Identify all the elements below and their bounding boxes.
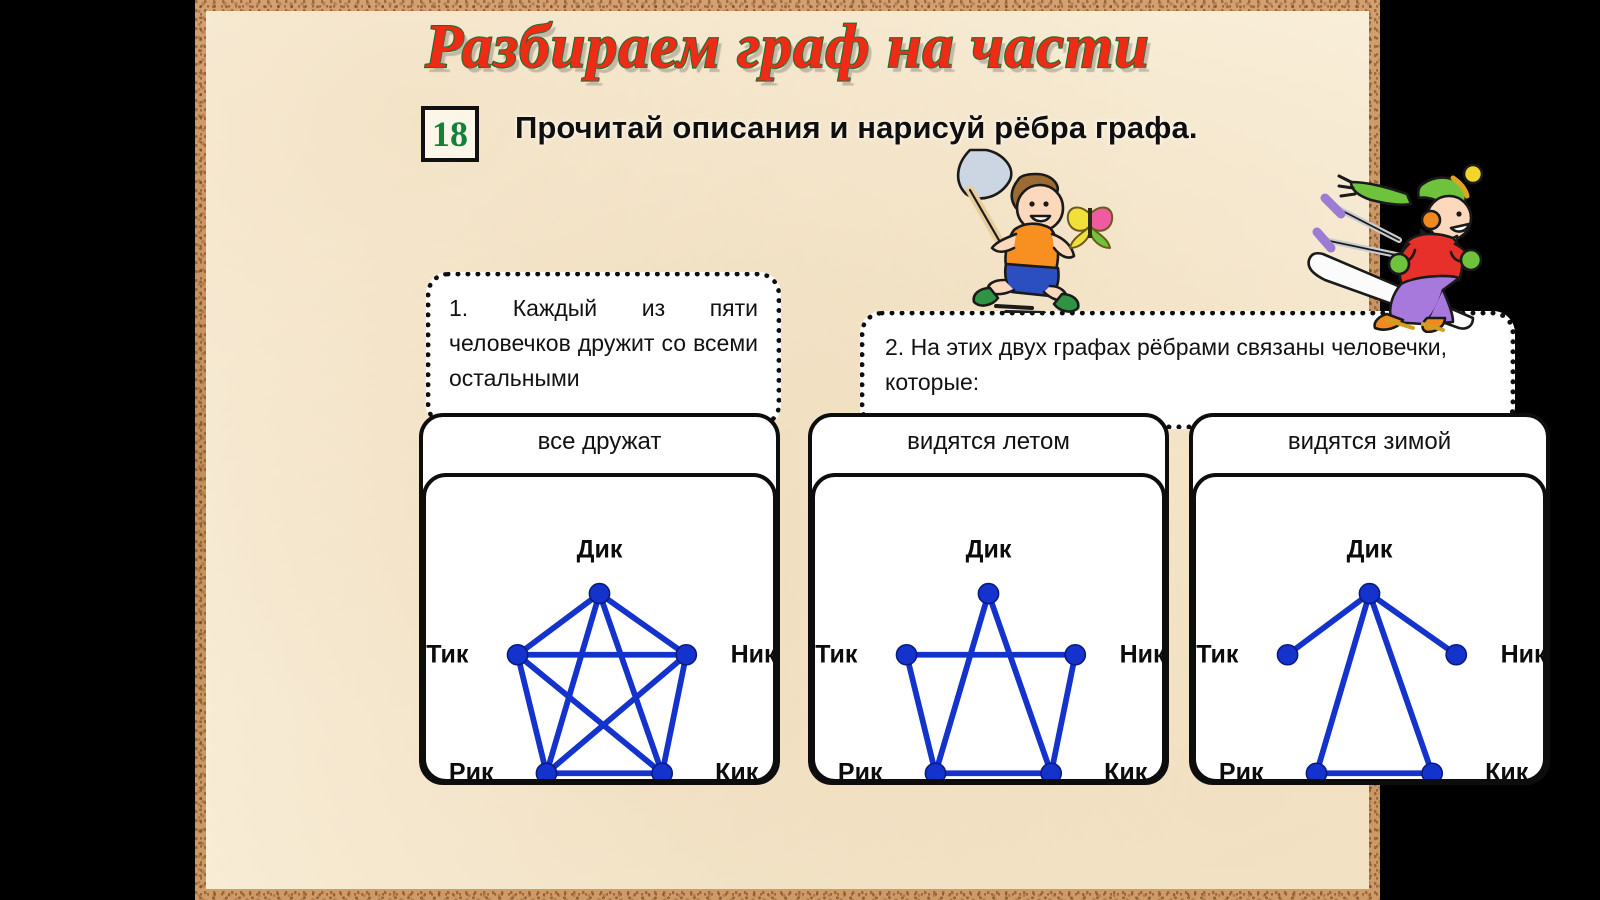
graph-edges: [1196, 477, 1543, 779]
graph-node[interactable]: [589, 584, 609, 604]
page-title: Разбираем граф на части: [195, 16, 1380, 78]
graph-1[interactable]: ДикТикНикРикКик: [426, 477, 773, 779]
graph-node-label: Ник: [731, 640, 777, 669]
graph-node-label: Тик: [1196, 640, 1238, 669]
description-1-text: 1. Каждый из пяти человечков дружит со в…: [431, 277, 776, 396]
graph-node[interactable]: [1306, 763, 1326, 779]
graph-node[interactable]: [1359, 584, 1379, 604]
slide-frame: Разбираем граф на части 18 Прочитай опис…: [195, 0, 1380, 900]
graph-3[interactable]: ДикТикНикРикКик: [1196, 477, 1543, 779]
graph-node-label: Дик: [577, 535, 623, 564]
graph-card-1-label: все дружат: [423, 428, 776, 456]
slide-stage: Разбираем граф на части 18 Прочитай опис…: [0, 0, 1600, 900]
graph-card-all-friends[interactable]: все дружат ДикТикНикРикКик: [419, 413, 780, 785]
graph-node-label: Дик: [1347, 535, 1393, 564]
graph-node-label: Рик: [1219, 759, 1264, 788]
graph-node-label: Дик: [966, 535, 1012, 564]
graph-node[interactable]: [676, 645, 696, 665]
graph-node-label: Тик: [426, 640, 468, 669]
graph-node[interactable]: [536, 763, 556, 779]
graph-edge[interactable]: [518, 594, 600, 655]
graph-card-3-label: видятся зимой: [1193, 428, 1546, 456]
graph-node-label: Кик: [1485, 759, 1528, 788]
graph-edge[interactable]: [1316, 594, 1369, 774]
graph-card-2-label: видятся летом: [812, 428, 1165, 456]
graph-node[interactable]: [652, 763, 672, 779]
graph-node[interactable]: [925, 763, 945, 779]
graph-node[interactable]: [1422, 763, 1442, 779]
graph-edge[interactable]: [989, 594, 1052, 774]
graph-node-label: Ник: [1120, 640, 1166, 669]
graph-card-3-canvas[interactable]: ДикТикНикРикКик: [1192, 473, 1547, 783]
graph-node-label: Кик: [1104, 759, 1147, 788]
graph-edge[interactable]: [1370, 594, 1433, 774]
graph-node[interactable]: [1446, 645, 1466, 665]
graph-node[interactable]: [1277, 645, 1297, 665]
graph-node-label: Кик: [715, 759, 758, 788]
graph-edge[interactable]: [1288, 594, 1370, 655]
graph-node[interactable]: [1041, 763, 1061, 779]
graph-node[interactable]: [896, 645, 916, 665]
graph-node[interactable]: [978, 584, 998, 604]
graph-edge[interactable]: [935, 594, 988, 774]
graph-node-label: Ник: [1501, 640, 1547, 669]
graph-node[interactable]: [507, 645, 527, 665]
graph-card-winter[interactable]: видятся зимой ДикТикНикРикКик: [1189, 413, 1550, 785]
graph-2[interactable]: ДикТикНикРикКик: [815, 477, 1162, 779]
graph-card-summer[interactable]: видятся летом ДикТикНикРикКик: [808, 413, 1169, 785]
graph-card-2-canvas[interactable]: ДикТикНикРикКик: [811, 473, 1166, 783]
graph-node-label: Тик: [815, 640, 857, 669]
task-number-badge: 18: [421, 106, 479, 162]
boy-with-butterfly-net-icon: [940, 138, 1115, 313]
graph-card-1-canvas[interactable]: ДикТикНикРикКик: [422, 473, 777, 783]
graph-node-label: Рик: [838, 759, 883, 788]
description-box-1: 1. Каждый из пяти человечков дружит со в…: [426, 272, 781, 427]
graph-edge[interactable]: [907, 655, 936, 774]
graph-edges: [426, 477, 773, 779]
graph-node-label: Рик: [449, 759, 494, 788]
graph-node[interactable]: [1065, 645, 1085, 665]
graph-edges: [815, 477, 1162, 779]
graph-edge[interactable]: [1051, 655, 1075, 774]
skier-child-icon: [1303, 148, 1483, 333]
